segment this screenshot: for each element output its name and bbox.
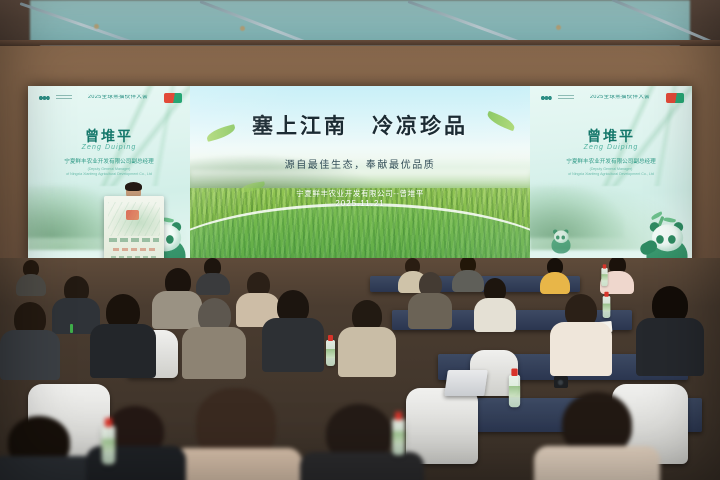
body [16, 274, 46, 296]
slide-title: 塞上江南 冷凉珍品 [190, 110, 530, 140]
audience-member-foreground [172, 388, 302, 480]
audience-member-foreground [534, 392, 660, 480]
body [262, 318, 324, 372]
conference-title: 2025全球熊猫伙伴大会 [578, 95, 662, 101]
audience-member [338, 300, 396, 374]
opp-logo-icon [538, 94, 554, 102]
panel-banner-bar: 2025全球熊猫伙伴大会 [36, 91, 182, 104]
conference-title: 2025全球熊猫伙伴大会 [76, 95, 160, 101]
audience-member [550, 294, 612, 372]
audience-member [540, 258, 570, 292]
audience-member [16, 260, 46, 294]
audience-member [182, 298, 246, 374]
hill-decor-2 [530, 186, 624, 238]
audience-member-foreground [300, 404, 424, 480]
body [300, 452, 424, 480]
ceiling-lamp-2 [240, 26, 245, 31]
conference-photo: 2025全球熊猫伙伴大会 曾堆平 Zeng Duiping 宁夏鲜丰农业开发有限… [0, 0, 720, 480]
body [0, 456, 100, 480]
speaker-role-cn: 宁夏鲜丰农业开发有限公司副总经理 [64, 159, 154, 165]
audience-member [90, 294, 156, 374]
slide-background: 塞上江南 冷凉珍品 源自最佳生态，奉献最优品质 宁夏鲜丰农业开发有限公司--曾堆… [190, 86, 530, 268]
body [474, 298, 516, 332]
opp-logo-icon [36, 94, 52, 102]
audience-member [636, 286, 704, 372]
audience-member-foreground [0, 416, 100, 480]
water-bottle [326, 340, 335, 366]
ceiling [0, 0, 720, 46]
slide-organization: 宁夏鲜丰农业开发有限公司--曾堆平 [190, 188, 530, 199]
speaker-role-en-2: of Ningxia Xianfeng Agricultural Develop… [34, 172, 184, 177]
panel-banner-bar: 2025全球熊猫伙伴大会 [538, 91, 684, 104]
body [540, 272, 570, 294]
body [408, 293, 452, 329]
lectern-text-line [113, 248, 155, 251]
body [636, 318, 704, 376]
speaker-hair [125, 182, 142, 191]
logo-wordmark [56, 95, 72, 101]
audience-member [408, 272, 452, 326]
logo-wordmark [558, 95, 574, 101]
panda-mascot-icon-small [548, 229, 575, 254]
audience-member [262, 290, 324, 368]
ceiling-lamp-3 [556, 25, 561, 30]
right-panel-background: 2025全球熊猫伙伴大会 曾堆平 Zeng Duiping 宁夏鲜丰农业开发有限… [530, 86, 692, 268]
water-bottle [392, 419, 405, 455]
panda-eye-left [556, 236, 560, 240]
speaker-name: 曾堆平 [530, 126, 692, 146]
water-bottle [102, 426, 116, 465]
speaker-name-pinyin: Zeng Duiping [28, 144, 190, 151]
slide-subtitle: 源自最佳生态，奉献最优品质 [190, 156, 530, 171]
body [534, 446, 660, 480]
ceiling-lamp-1 [94, 24, 99, 29]
lectern-red-accent [126, 210, 139, 220]
speaker-name-pinyin: Zeng Duiping [530, 144, 692, 151]
water-bottle [601, 268, 607, 286]
panda-eye-right [562, 236, 566, 240]
field-mist [190, 170, 530, 188]
main-presentation-slide: 塞上江南 冷凉珍品 源自最佳生态，奉献最优品质 宁夏鲜丰农业开发有限公司--曾堆… [190, 86, 530, 268]
audience-area [0, 258, 720, 480]
audience-member [0, 302, 60, 376]
speaker-role-cn: 宁夏鲜丰农业开发有限公司副总经理 [566, 159, 656, 165]
panda-eye-left [656, 235, 664, 244]
sponsor-logo-icon [666, 93, 684, 103]
sponsor-logo-icon [164, 93, 182, 103]
speaker-role-block: 宁夏鲜丰农业开发有限公司副总经理 (Deputy General Manager… [536, 158, 686, 177]
speaker-role-en-2: of Ningxia Xianfeng Agricultural Develop… [536, 172, 686, 177]
right-speaker-panel: 2025全球熊猫伙伴大会 曾堆平 Zeng Duiping 宁夏鲜丰农业开发有限… [530, 86, 692, 268]
lanyard [70, 324, 73, 333]
lectern-text-line [109, 238, 159, 242]
body [172, 448, 302, 480]
ceiling-glow [30, 0, 690, 44]
audience-member [474, 278, 516, 328]
slide-date: 2025.11.21 [190, 199, 530, 208]
panda-eye-right [668, 235, 676, 244]
speaker-name: 曾堆平 [28, 126, 190, 146]
speaker-role-block: 宁夏鲜丰农业开发有限公司副总经理 (Deputy General Manager… [34, 158, 184, 177]
foreground-blur-layer [0, 370, 720, 480]
panda-eye-right [166, 235, 174, 244]
body [550, 322, 612, 376]
